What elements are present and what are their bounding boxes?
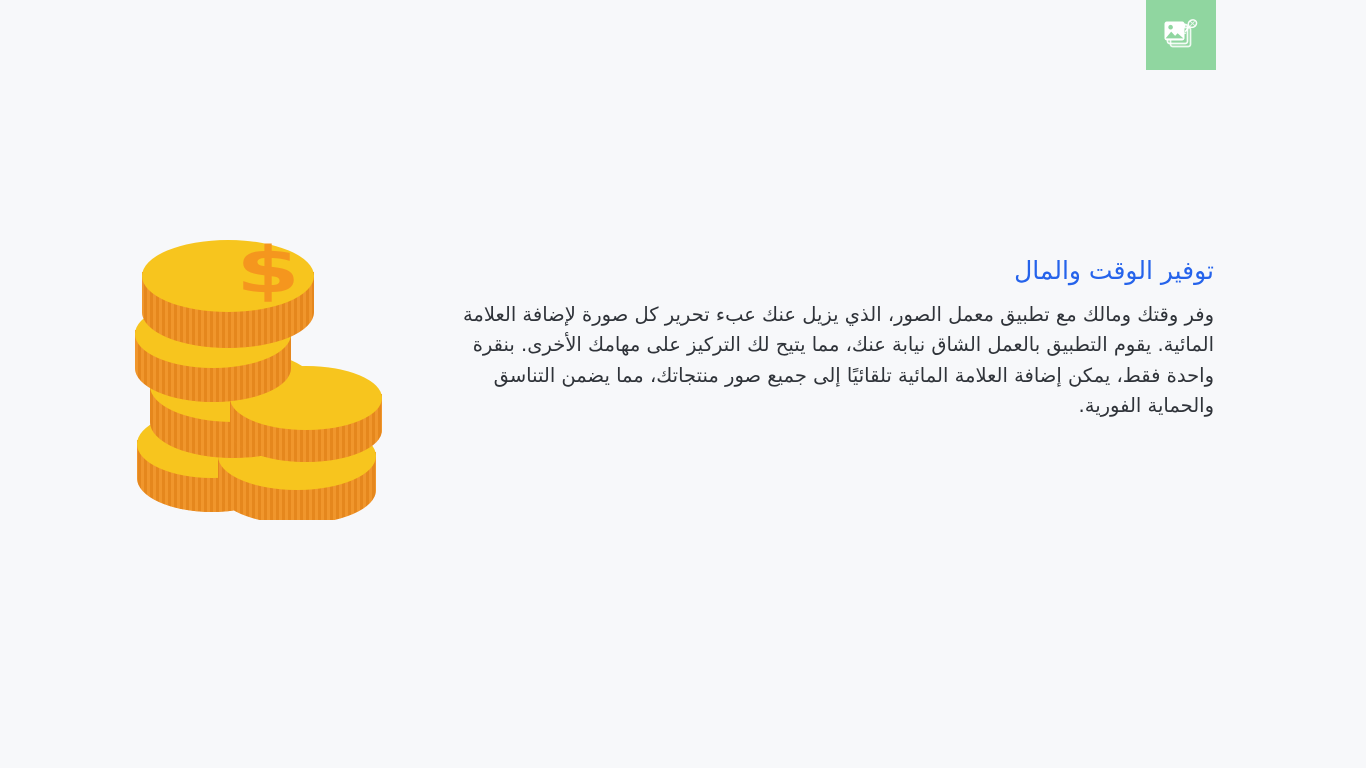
coin-stack-illustration: $	[120, 190, 400, 520]
feature-title: توفير الوقت والمال	[460, 255, 1214, 286]
feature-body-text: وفر وقتك ومالك مع تطبيق معمل الصور، الذي…	[460, 300, 1214, 421]
photo-stack-sparkle-icon	[1160, 14, 1202, 56]
app-badge[interactable]	[1146, 0, 1216, 70]
feature-page: $ توفير الوقت والمال وفر وقتك ومالك مع ت…	[0, 0, 1366, 768]
feature-text-block: توفير الوقت والمال وفر وقتك ومالك مع تطب…	[460, 255, 1214, 421]
svg-text:$: $	[236, 232, 300, 307]
feature-row: $ توفير الوقت والمال وفر وقتك ومالك مع ت…	[0, 150, 1366, 570]
